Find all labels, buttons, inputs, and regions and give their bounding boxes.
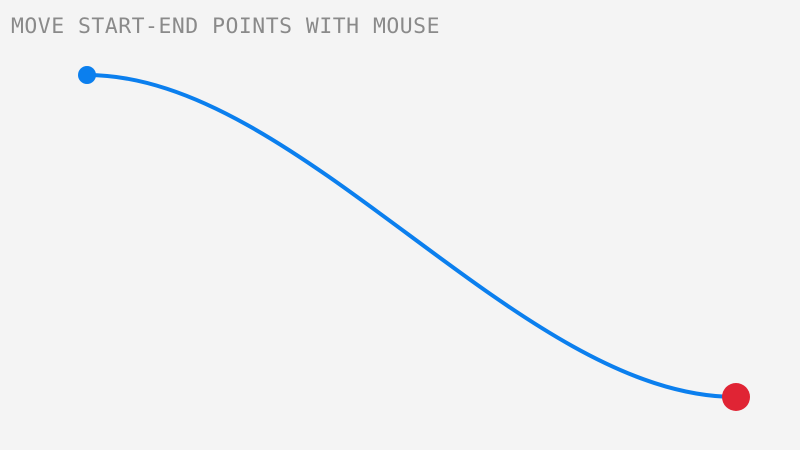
end-point-handle[interactable]: [722, 383, 750, 411]
start-point-handle[interactable]: [78, 66, 96, 84]
bezier-demo-app: MOVE START-END POINTS WITH MOUSE: [0, 0, 800, 450]
bezier-curve-path: [87, 75, 736, 397]
drawing-canvas[interactable]: MOVE START-END POINTS WITH MOUSE: [0, 0, 800, 450]
page-title: MOVE START-END POINTS WITH MOUSE: [11, 14, 440, 38]
curve-layer: [0, 0, 800, 450]
